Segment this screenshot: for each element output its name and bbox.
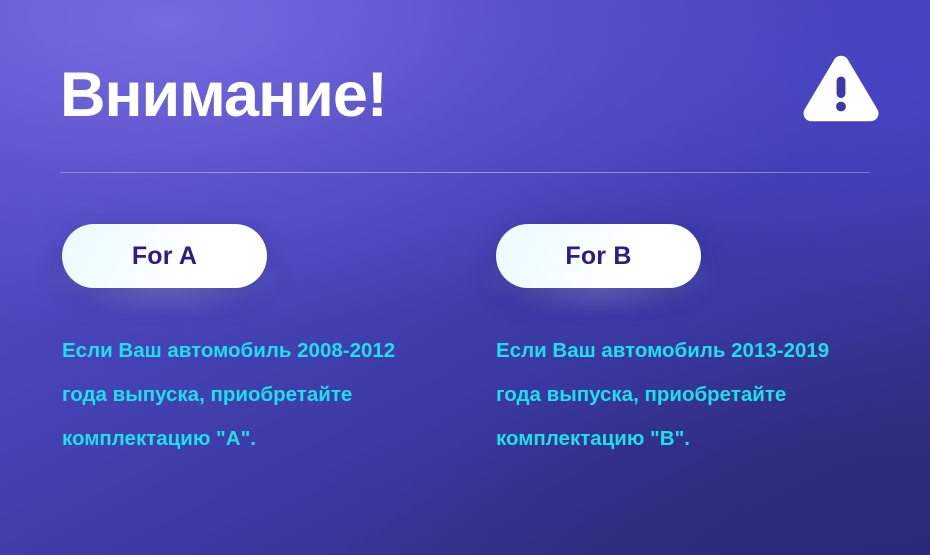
option-a-line-3: комплектацию "А". <box>62 417 457 461</box>
warning-triangle-icon <box>802 54 880 124</box>
header-divider <box>60 172 870 173</box>
for-a-button-wrap: For A <box>62 224 267 288</box>
option-b-description: Если Ваш автомобиль 2013-2019 года выпус… <box>496 329 891 461</box>
for-a-button[interactable]: For A <box>62 224 267 288</box>
for-b-button[interactable]: For B <box>496 224 701 288</box>
notice-banner: Внимание! For A Если Ваш автомобиль 2008… <box>0 0 930 555</box>
option-a-line-1: Если Ваш автомобиль 2008-2012 <box>62 329 457 373</box>
banner-header: Внимание! <box>60 46 875 144</box>
option-a-line-2: года выпуска, приобретайте <box>62 373 457 417</box>
page-title: Внимание! <box>60 46 875 144</box>
option-column-b: For B Если Ваш автомобиль 2013-2019 года… <box>496 224 896 288</box>
option-a-description: Если Ваш автомобиль 2008-2012 года выпус… <box>62 329 457 461</box>
option-b-line-1: Если Ваш автомобиль 2013-2019 <box>496 329 891 373</box>
option-b-line-2: года выпуска, приобретайте <box>496 373 891 417</box>
option-column-a: For A Если Ваш автомобиль 2008-2012 года… <box>62 224 462 288</box>
for-b-button-wrap: For B <box>496 224 701 288</box>
option-b-line-3: комплектацию "В". <box>496 417 891 461</box>
